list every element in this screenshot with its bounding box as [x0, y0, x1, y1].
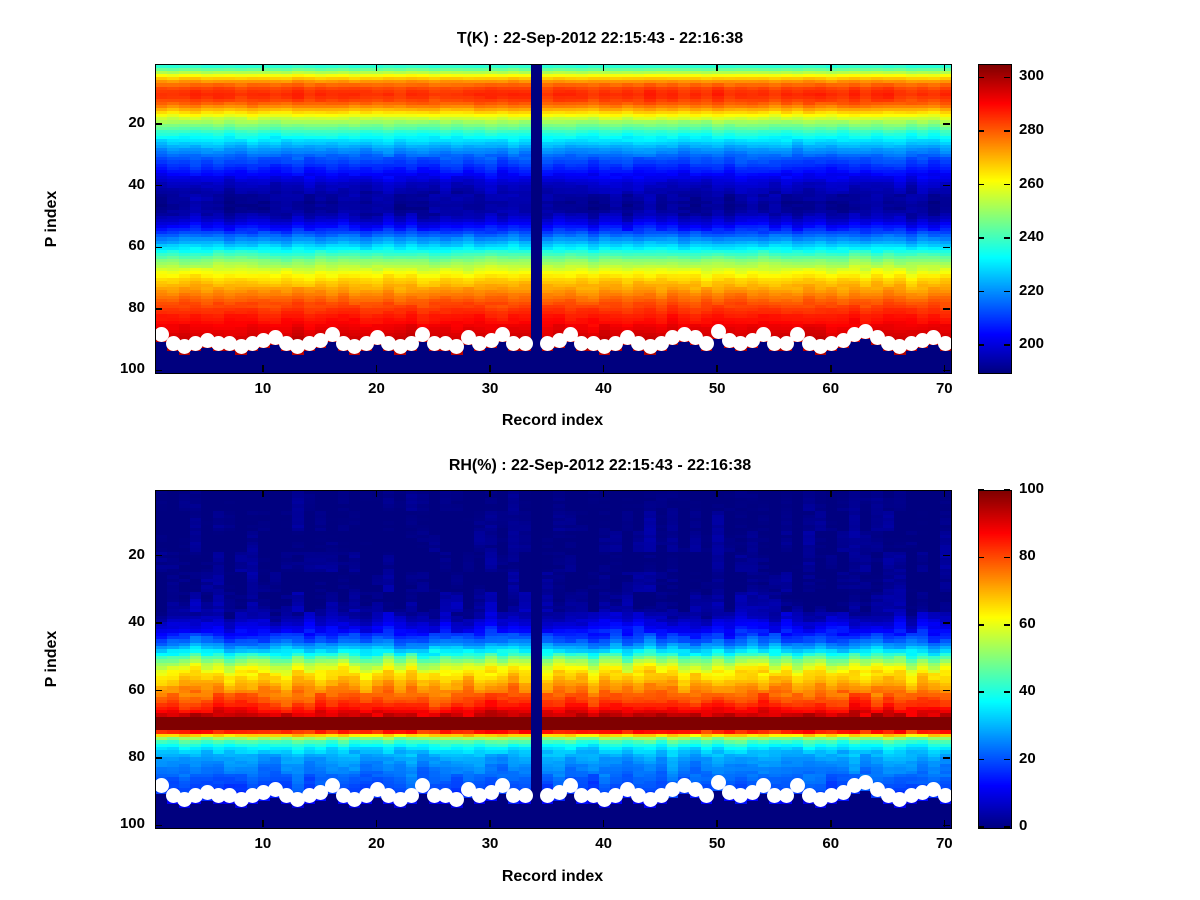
x-tick-mark [489, 490, 491, 497]
xlabel-relative-humidity: Record index [155, 868, 950, 886]
colorbar-tick-mark [978, 489, 984, 491]
colorbar-temperature [978, 64, 1012, 374]
surface-marker [699, 788, 714, 803]
y-tick-mark [943, 757, 950, 759]
y-tick-mark [155, 825, 162, 827]
y-tick-label: 20 [93, 546, 145, 563]
colorbar-tick-mark [978, 344, 984, 346]
colorbar-tick-mark [978, 184, 984, 186]
colorbar-tick-mark [1004, 184, 1010, 186]
x-tick-mark [262, 365, 264, 372]
y-tick-label: 40 [93, 176, 145, 193]
surface-marker-layer-temperature [156, 65, 951, 373]
x-tick-mark [489, 64, 491, 71]
y-tick-mark [943, 308, 950, 310]
surface-marker [938, 336, 952, 351]
colorbar-tick-label: 20 [1019, 750, 1036, 767]
colorbar-tick-mark [1004, 826, 1010, 828]
x-tick-mark [830, 365, 832, 372]
x-tick-mark [376, 820, 378, 827]
colorbar-gradient-relative-humidity [979, 491, 1011, 828]
xlabel-temperature: Record index [155, 412, 950, 430]
y-tick-mark [155, 247, 162, 249]
colorbar-tick-label: 240 [1019, 228, 1044, 245]
x-tick-label: 70 [919, 380, 969, 397]
y-tick-label: 60 [93, 237, 145, 254]
x-tick-label: 60 [806, 835, 856, 852]
surface-marker [518, 788, 533, 803]
x-tick-mark [376, 365, 378, 372]
x-tick-label: 10 [238, 380, 288, 397]
colorbar-tick-mark [978, 77, 984, 79]
x-tick-mark [944, 490, 946, 497]
colorbar-tick-label: 100 [1019, 480, 1044, 497]
x-tick-mark [716, 64, 718, 71]
colorbar-tick-mark [978, 826, 984, 828]
surface-marker [518, 336, 533, 351]
surface-marker [938, 788, 952, 803]
y-tick-label: 80 [93, 299, 145, 316]
colorbar-tick-mark [1004, 77, 1010, 79]
x-tick-mark [376, 490, 378, 497]
axes-relative-humidity [155, 490, 952, 829]
x-tick-mark [830, 820, 832, 827]
colorbar-tick-label: 0 [1019, 817, 1027, 834]
colorbar-tick-mark [978, 691, 984, 693]
colorbar-tick-mark [1004, 291, 1010, 293]
colorbar-tick-label: 60 [1019, 615, 1036, 632]
y-tick-mark [943, 247, 950, 249]
y-tick-mark [155, 185, 162, 187]
colorbar-tick-mark [978, 759, 984, 761]
colorbar-tick-mark [1004, 759, 1010, 761]
colorbar-tick-label: 220 [1019, 282, 1044, 299]
colorbar-gradient-temperature [979, 65, 1011, 373]
y-tick-mark [155, 690, 162, 692]
y-tick-mark [943, 690, 950, 692]
colorbar-tick-label: 300 [1019, 67, 1044, 84]
x-tick-mark [603, 490, 605, 497]
colorbar-tick-label: 200 [1019, 335, 1044, 352]
colorbar-tick-label: 80 [1019, 547, 1036, 564]
x-tick-mark [830, 490, 832, 497]
colorbar-tick-label: 280 [1019, 121, 1044, 138]
plot-title-relative-humidity: RH(%) : 22-Sep-2012 22:15:43 - 22:16:38 [0, 457, 1200, 475]
colorbar-tick-mark [1004, 691, 1010, 693]
x-tick-mark [376, 64, 378, 71]
y-tick-mark [943, 123, 950, 125]
y-tick-label: 40 [93, 613, 145, 630]
x-tick-label: 30 [465, 835, 515, 852]
x-tick-label: 40 [579, 380, 629, 397]
y-tick-mark [155, 622, 162, 624]
y-tick-mark [943, 370, 950, 372]
y-tick-label: 100 [93, 360, 145, 377]
colorbar-tick-mark [1004, 237, 1010, 239]
y-tick-label: 100 [93, 815, 145, 832]
x-tick-mark [262, 64, 264, 71]
axes-temperature [155, 64, 952, 374]
x-tick-mark [489, 365, 491, 372]
colorbar-tick-mark [1004, 344, 1010, 346]
y-tick-mark [155, 308, 162, 310]
x-tick-label: 50 [692, 380, 742, 397]
y-tick-mark [943, 185, 950, 187]
x-tick-label: 40 [579, 835, 629, 852]
colorbar-tick-mark [1004, 130, 1010, 132]
x-tick-label: 50 [692, 835, 742, 852]
y-tick-mark [155, 370, 162, 372]
colorbar-tick-mark [978, 557, 984, 559]
y-tick-label: 60 [93, 681, 145, 698]
colorbar-tick-mark [978, 237, 984, 239]
ylabel-temperature: P index [43, 149, 61, 289]
y-tick-mark [155, 555, 162, 557]
y-tick-label: 80 [93, 748, 145, 765]
colorbar-tick-mark [978, 624, 984, 626]
colorbar-tick-label: 260 [1019, 175, 1044, 192]
figure-canvas: T(K) : 22-Sep-2012 22:15:43 - 22:16:38 1… [0, 0, 1200, 900]
x-tick-mark [489, 820, 491, 827]
x-tick-label: 70 [919, 835, 969, 852]
plot-title-temperature: T(K) : 22-Sep-2012 22:15:43 - 22:16:38 [0, 30, 1200, 48]
x-tick-label: 20 [351, 380, 401, 397]
ylabel-relative-humidity: P index [43, 589, 61, 729]
x-tick-label: 20 [351, 835, 401, 852]
x-tick-mark [716, 365, 718, 372]
colorbar-tick-mark [1004, 489, 1010, 491]
x-tick-mark [716, 820, 718, 827]
colorbar-tick-mark [978, 130, 984, 132]
x-tick-mark [716, 490, 718, 497]
colorbar-tick-mark [1004, 624, 1010, 626]
x-tick-mark [262, 820, 264, 827]
y-tick-mark [155, 123, 162, 125]
colorbar-relative-humidity [978, 490, 1012, 829]
x-tick-label: 30 [465, 380, 515, 397]
x-tick-mark [603, 64, 605, 71]
y-tick-mark [943, 622, 950, 624]
x-tick-mark [603, 365, 605, 372]
surface-marker [699, 336, 714, 351]
y-tick-mark [943, 555, 950, 557]
y-tick-mark [943, 825, 950, 827]
x-tick-mark [944, 64, 946, 71]
x-tick-mark [262, 490, 264, 497]
surface-marker-layer-relative-humidity [156, 491, 951, 828]
colorbar-tick-label: 40 [1019, 682, 1036, 699]
colorbar-tick-mark [978, 291, 984, 293]
subplot-temperature: T(K) : 22-Sep-2012 22:15:43 - 22:16:38 1… [0, 0, 1200, 440]
x-tick-label: 60 [806, 380, 856, 397]
subplot-relative-humidity: RH(%) : 22-Sep-2012 22:15:43 - 22:16:38 … [0, 430, 1200, 900]
x-tick-mark [603, 820, 605, 827]
colorbar-tick-mark [1004, 557, 1010, 559]
y-tick-label: 20 [93, 114, 145, 131]
x-tick-mark [830, 64, 832, 71]
y-tick-mark [155, 757, 162, 759]
x-tick-label: 10 [238, 835, 288, 852]
